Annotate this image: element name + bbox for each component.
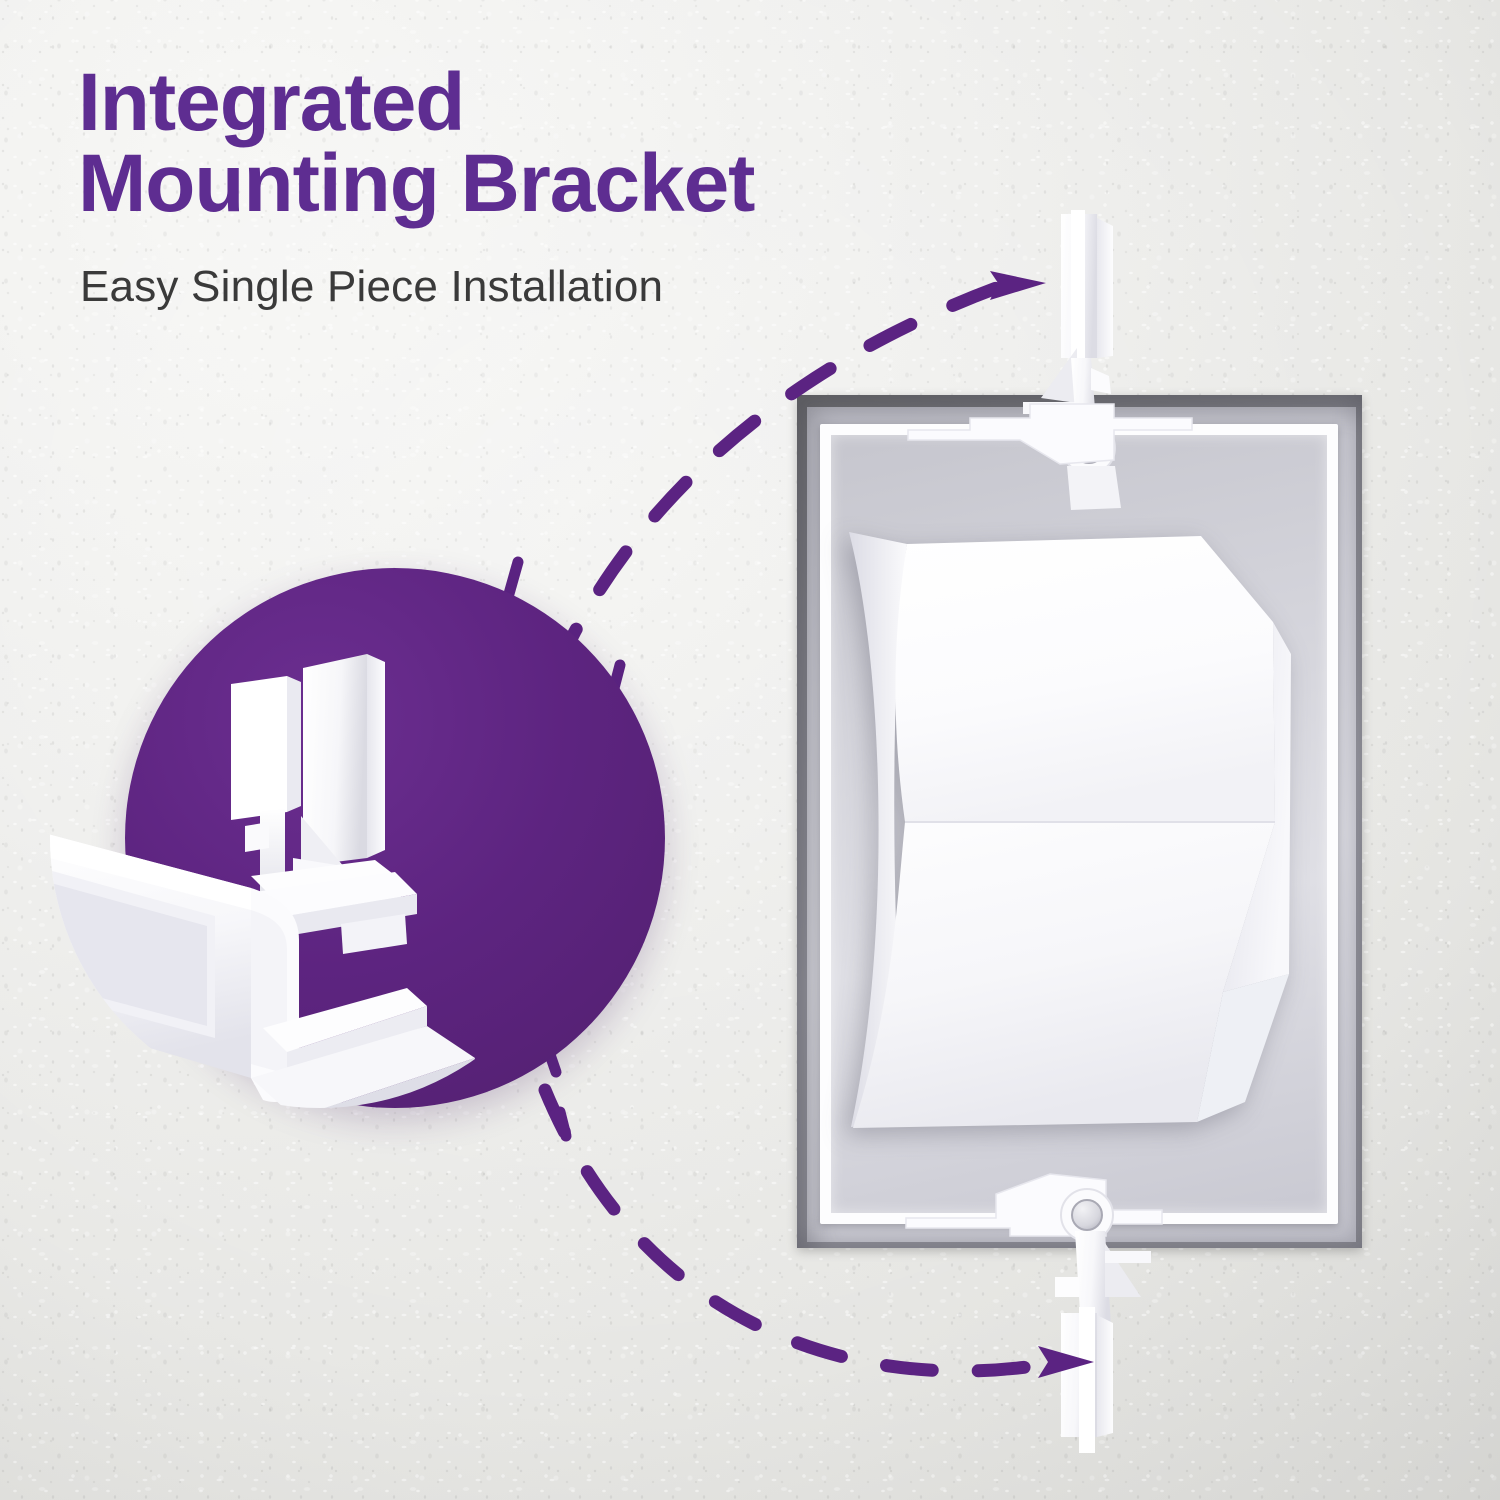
arrowhead-top [990, 271, 1046, 300]
page-title: Integrated Mounting Bracket [78, 62, 1038, 224]
product-marketing-canvas: Integrated Mounting Bracket Easy Single … [0, 0, 1500, 1500]
page-subtitle: Easy Single Piece Installation [80, 262, 663, 312]
inset-bracket-render [55, 558, 755, 1178]
bracket-closeup-inset [125, 568, 665, 1108]
arrowhead-bottom [1038, 1346, 1094, 1378]
